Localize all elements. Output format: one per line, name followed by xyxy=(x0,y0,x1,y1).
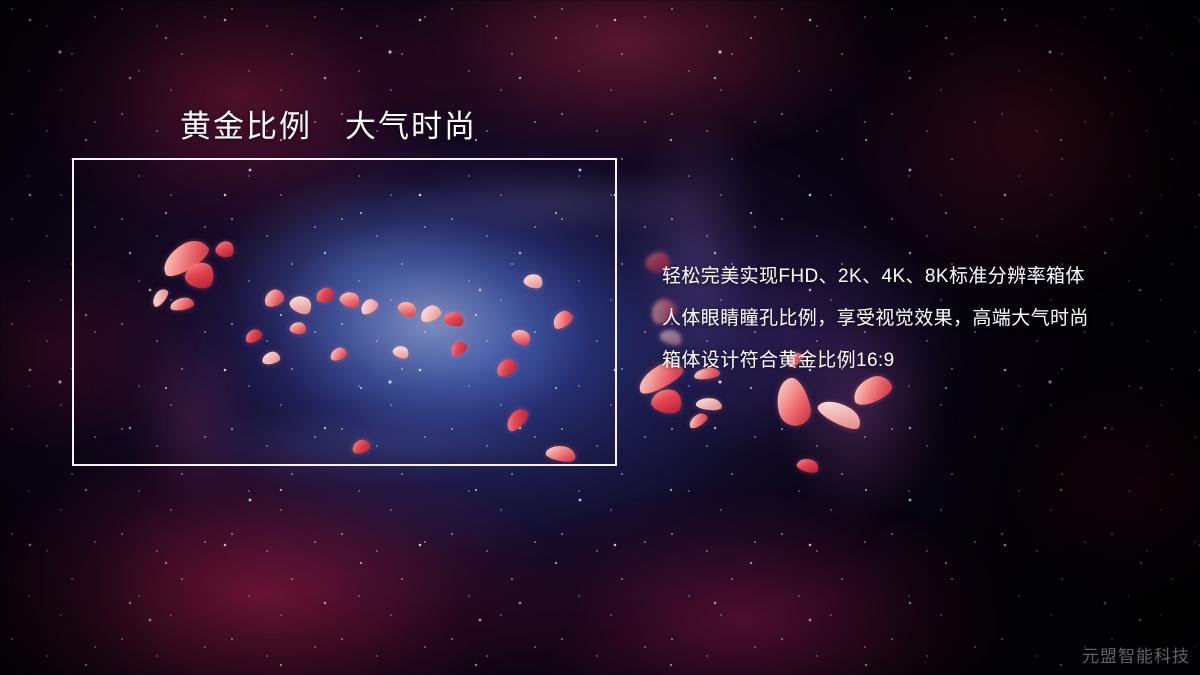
petal-large xyxy=(649,385,684,416)
frame-starfield-large xyxy=(74,160,615,464)
petal xyxy=(510,326,534,348)
petal-large xyxy=(182,258,217,292)
petal xyxy=(262,287,286,308)
petal xyxy=(287,292,315,318)
petal xyxy=(149,286,170,308)
petal xyxy=(796,456,821,475)
frame-starfield-small xyxy=(74,160,615,464)
petal xyxy=(391,343,411,361)
body-line-3: 箱体设计符合黄金比例16:9 xyxy=(662,340,1162,382)
frame-nebula-blue-core xyxy=(74,160,615,464)
petal xyxy=(243,327,263,344)
frame-nebula-wisps xyxy=(74,160,615,464)
petal xyxy=(214,239,236,259)
watermark: 元盟智能科技 xyxy=(1082,642,1190,667)
framed-image xyxy=(72,158,617,466)
petal xyxy=(695,396,722,412)
petal-large xyxy=(157,234,213,281)
petal xyxy=(396,298,420,320)
petal xyxy=(522,271,544,290)
frame-starfield-medium xyxy=(74,160,615,464)
petal-large xyxy=(815,394,865,433)
petal xyxy=(289,321,307,336)
frame-background-base xyxy=(74,160,615,464)
petal xyxy=(502,405,531,434)
petal xyxy=(550,308,576,332)
petal xyxy=(545,443,577,464)
petal xyxy=(315,286,336,303)
frame-vignette xyxy=(74,160,615,464)
petal xyxy=(687,411,710,431)
petal xyxy=(261,351,281,366)
petal xyxy=(448,339,469,359)
petal xyxy=(418,303,443,324)
petal xyxy=(338,289,362,311)
petal xyxy=(329,346,349,362)
body-text-block: 轻松完美实现FHD、2K、4K、8K标准分辨率箱体 人体眼睛瞳孔比例，享受视觉效… xyxy=(662,256,1162,382)
petal-large xyxy=(772,375,813,429)
petal xyxy=(358,297,380,317)
framed-image-scene xyxy=(74,160,615,464)
petal xyxy=(443,310,466,328)
petal xyxy=(169,296,194,311)
body-line-1: 轻松完美实现FHD、2K、4K、8K标准分辨率箱体 xyxy=(662,256,1162,298)
petal xyxy=(351,438,372,455)
body-line-2: 人体眼睛瞳孔比例，享受视觉效果，高端大气时尚 xyxy=(662,298,1162,340)
petal xyxy=(494,356,519,378)
framed-image-inner xyxy=(74,160,615,464)
frame-nebula-crimson xyxy=(74,160,615,464)
presentation-slide: 黄金比例 大气时尚 轻松完美实现FHD、2K、4K、8K标准分辨率箱体 人体眼睛… xyxy=(0,0,1200,675)
page-title: 黄金比例 大气时尚 xyxy=(180,101,477,146)
frame-petal-field xyxy=(74,160,615,464)
